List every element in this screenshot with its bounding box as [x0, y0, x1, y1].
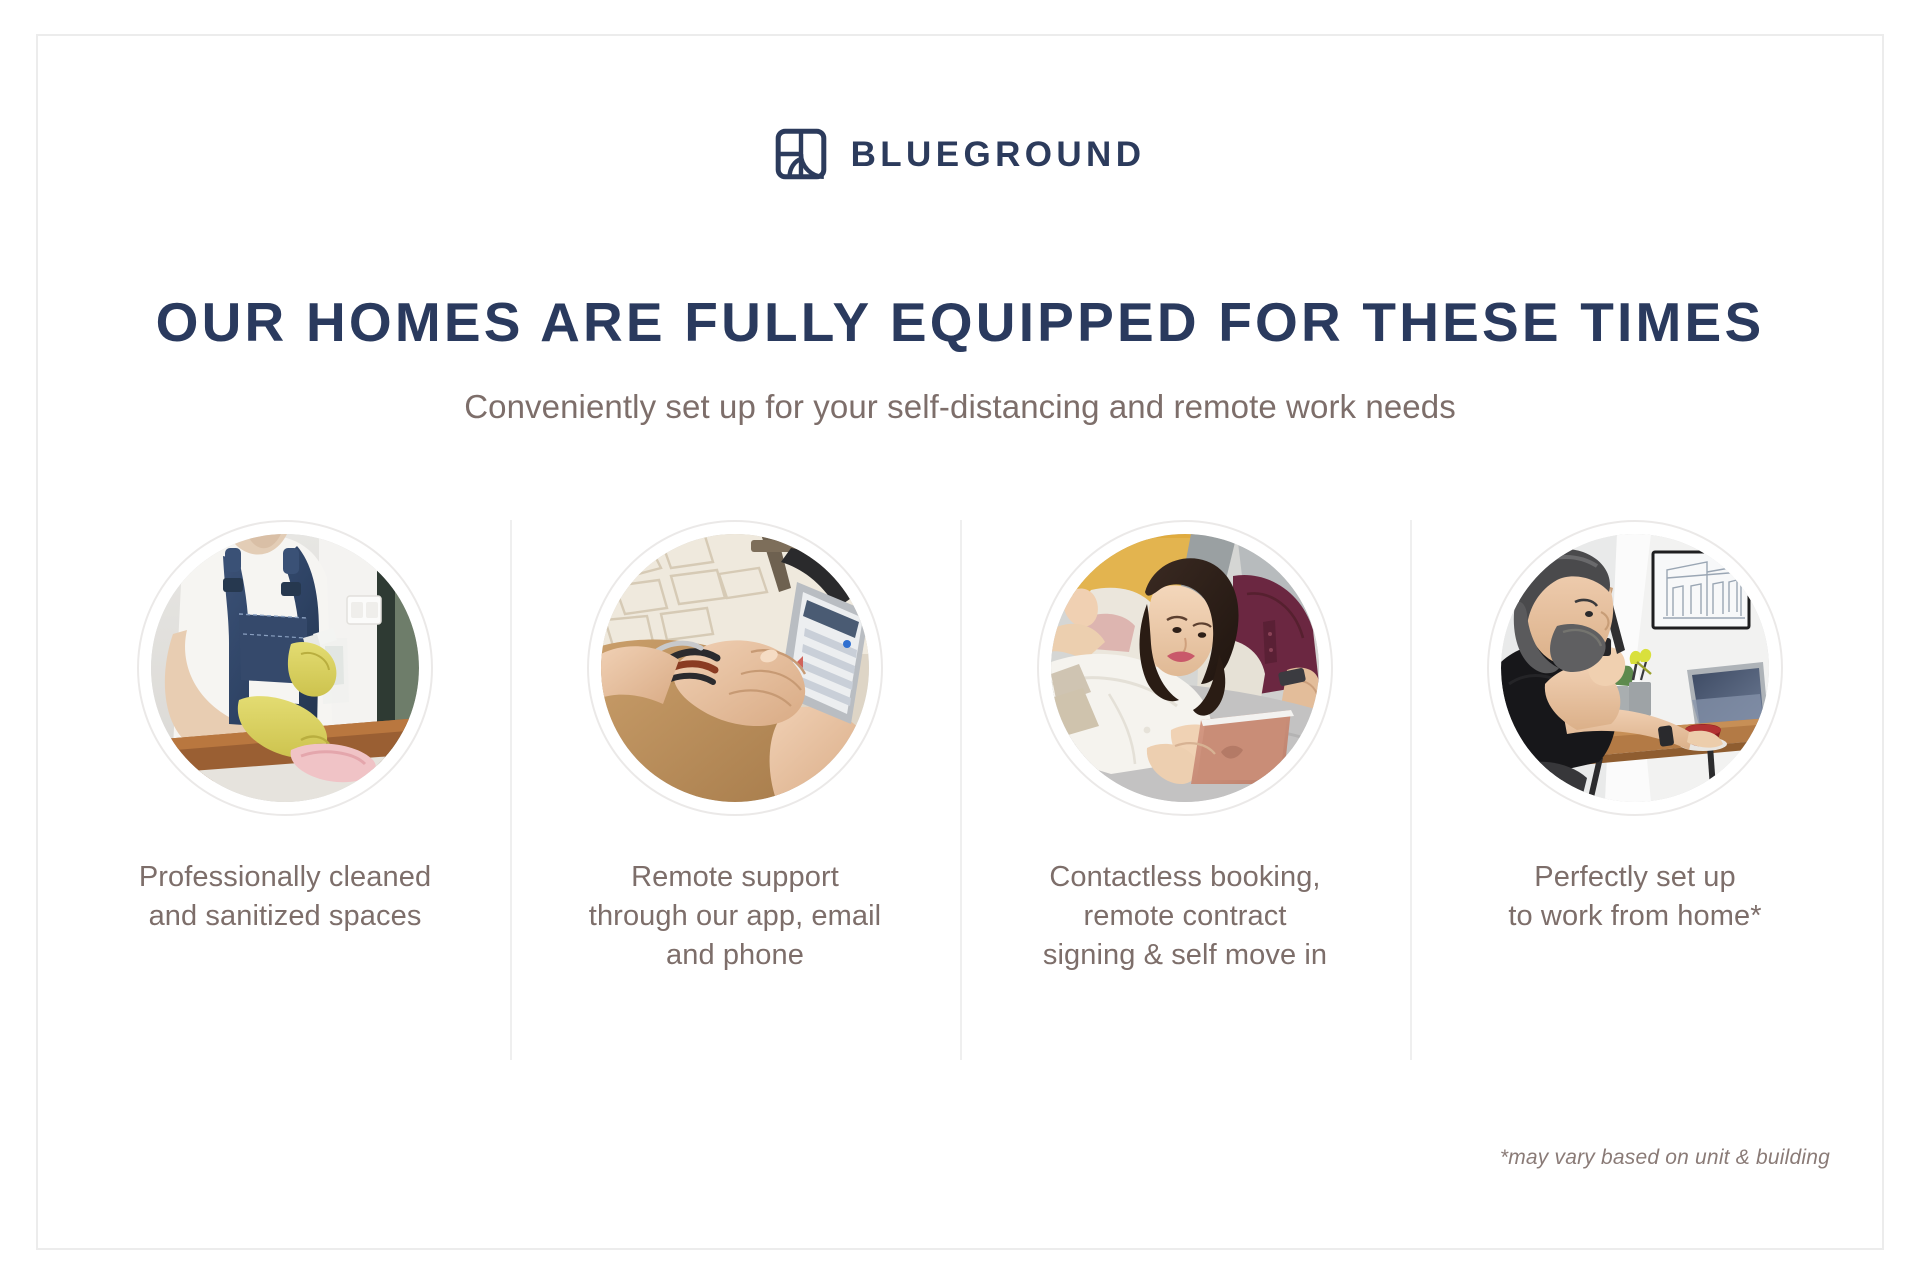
feature-item-work-from-home: Perfectly set up to work from home* [1410, 520, 1860, 936]
photo-ring [137, 520, 433, 816]
feature-caption: Contactless booking, remote contract sig… [1043, 858, 1327, 975]
feature-item-contactless-booking: Contactless booking, remote contract sig… [960, 520, 1410, 975]
woman-using-tablet-on-bed-photo [1051, 534, 1319, 802]
page-subtitle: Conveniently set up for your self-distan… [0, 387, 1920, 427]
blueground-logo-icon [775, 128, 827, 180]
page-title: OUR HOMES ARE FULLY EQUIPPED FOR THESE T… [0, 292, 1920, 353]
hands-using-smartphone-photo [601, 534, 869, 802]
feature-item-remote-support: Remote support through our app, email an… [510, 520, 960, 975]
feature-caption: Remote support through our app, email an… [589, 858, 881, 975]
poster: BLUEGROUND OUR HOMES ARE FULLY EQUIPPED … [0, 0, 1920, 1280]
feature-caption: Perfectly set up to work from home* [1508, 858, 1761, 936]
photo-ring [1037, 520, 1333, 816]
footnote-disclaimer: *may vary based on unit & building [1500, 1146, 1830, 1170]
feature-caption: Professionally cleaned and sanitized spa… [139, 858, 431, 936]
brand-lockup: BLUEGROUND [0, 128, 1920, 180]
man-working-at-desk-photo [1501, 534, 1769, 802]
brand-name: BLUEGROUND [851, 137, 1146, 172]
cleaner-wiping-counter-photo [151, 534, 419, 802]
photo-ring [587, 520, 883, 816]
feature-list: Professionally cleaned and sanitized spa… [60, 520, 1860, 975]
photo-ring [1487, 520, 1783, 816]
feature-item-cleaning: Professionally cleaned and sanitized spa… [60, 520, 510, 936]
